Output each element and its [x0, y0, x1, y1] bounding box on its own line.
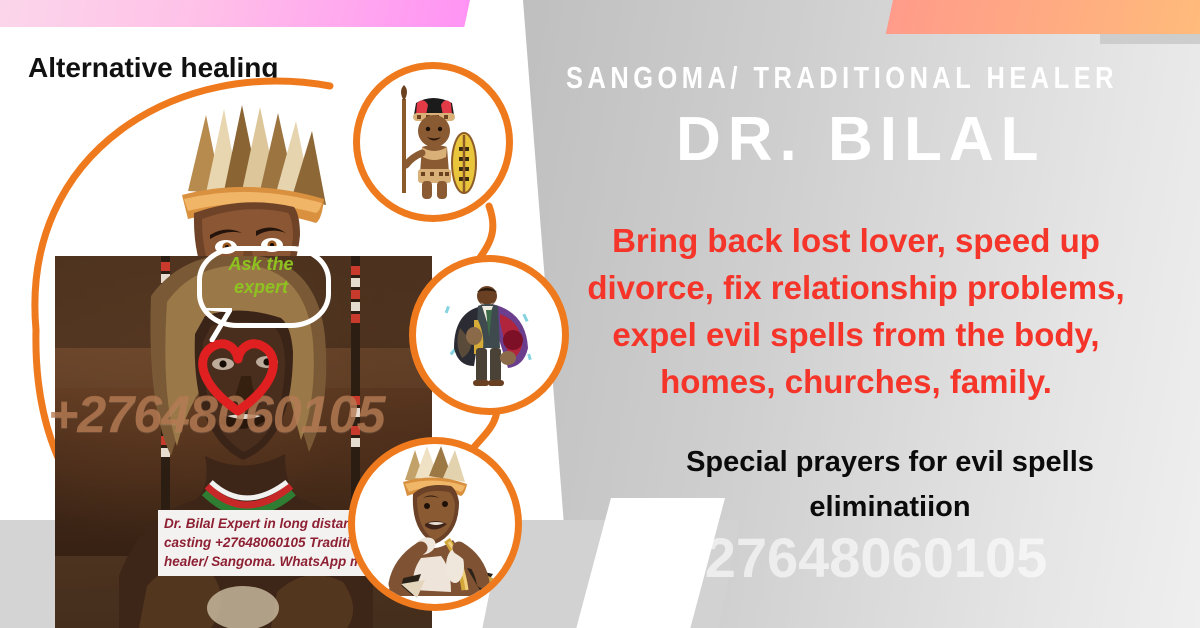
speech-bubble-tail — [206, 308, 232, 342]
zulu-warrior-cartoon-icon — [360, 69, 506, 215]
services-line-1: Bring back lost lover, speed up — [548, 217, 1164, 264]
services-line-4: homes, churches, family. — [548, 358, 1164, 405]
heart-icon — [192, 335, 284, 417]
healer-name-title: DR. BILAL — [676, 104, 1046, 175]
circle-zulu-warrior — [353, 62, 513, 222]
circle-crouching-healer — [348, 437, 522, 611]
services-line-2: divorce, fix relationship problems, — [548, 264, 1164, 311]
caped-healer-figure-icon — [416, 262, 562, 408]
bubble-line-1: Ask the — [205, 253, 317, 276]
circle-caped-healer — [409, 255, 569, 415]
speech-bubble-text: Ask the expert — [205, 253, 317, 299]
phone-watermark: +27648060105 — [672, 525, 1192, 590]
kicker-subtitle: SANGOMA/ TRADITIONAL HEALER — [566, 60, 1074, 96]
services-line-3: expel evil spells from the body, — [548, 311, 1164, 358]
prayers-text: Special prayers for evil spells eliminat… — [610, 440, 1170, 530]
prayers-line-2: eliminatiion — [610, 485, 1170, 530]
crouching-traditional-healer-icon — [355, 444, 515, 604]
services-text: Bring back lost lover, speed up divorce,… — [548, 217, 1164, 405]
bubble-line-2: expert — [205, 276, 317, 299]
prayers-line-1: Special prayers for evil spells — [610, 440, 1170, 485]
orange-gradient-band — [886, 0, 1200, 34]
poster-canvas: Alternative healing — [0, 0, 1200, 628]
